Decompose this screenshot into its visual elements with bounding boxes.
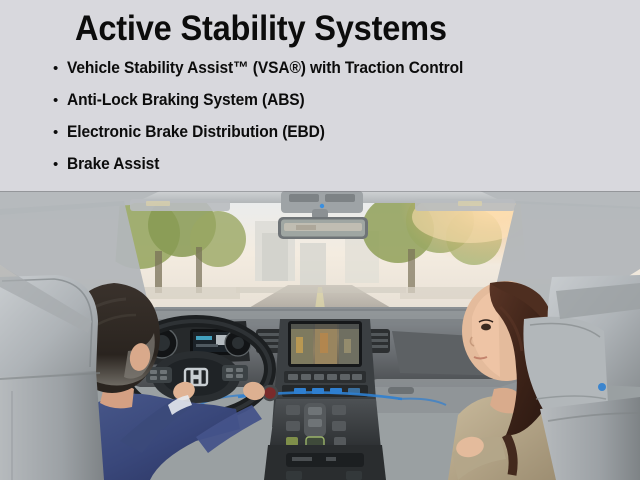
bullet-dot-icon: • bbox=[53, 125, 67, 140]
presentation-slide: Active Stability Systems • Vehicle Stabi… bbox=[0, 0, 640, 480]
park-button bbox=[286, 437, 298, 446]
bullet-dot-icon: • bbox=[53, 61, 67, 76]
bullet-dot-icon: • bbox=[53, 93, 67, 108]
driver-seat-back bbox=[0, 371, 104, 480]
vehicle-interior-illustration bbox=[0, 191, 640, 480]
list-item-label: Anti-Lock Braking System (ABS) bbox=[67, 91, 305, 110]
list-item: • Anti-Lock Braking System (ABS) bbox=[53, 91, 488, 123]
engine-start-button bbox=[263, 386, 277, 400]
list-item-label: Electronic Brake Distribution (EBD) bbox=[67, 123, 325, 142]
list-item-label: Brake Assist bbox=[67, 155, 159, 174]
text-panel: Active Stability Systems • Vehicle Stabi… bbox=[0, 0, 640, 191]
bullet-dot-icon: • bbox=[53, 157, 67, 172]
sun-visor-left bbox=[130, 199, 230, 211]
wheel-control-right bbox=[222, 365, 248, 381]
list-item-label: Vehicle Stability Assist™ (VSA®) with Tr… bbox=[67, 59, 463, 78]
feature-bullet-list: • Vehicle Stability Assist™ (VSA®) with … bbox=[53, 59, 488, 187]
page-title: Active Stability Systems bbox=[75, 9, 447, 50]
center-console-lower bbox=[264, 445, 386, 480]
vehicle-interior-photo bbox=[0, 191, 640, 480]
passenger-seat-back bbox=[540, 397, 640, 480]
list-item: • Vehicle Stability Assist™ (VSA®) with … bbox=[53, 59, 488, 91]
seat-accent-dot bbox=[598, 383, 606, 391]
list-item: • Brake Assist bbox=[53, 155, 488, 187]
panel-divider bbox=[0, 191, 640, 192]
glove-box-handle bbox=[388, 387, 414, 394]
list-item: • Electronic Brake Distribution (EBD) bbox=[53, 123, 488, 155]
